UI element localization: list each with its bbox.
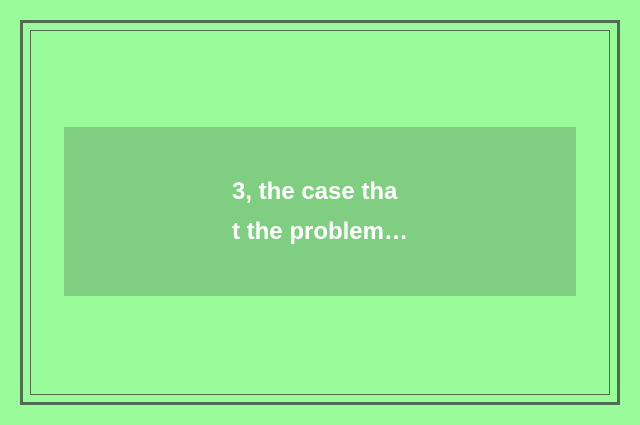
content-panel: 3, the case tha t the problem… (64, 127, 576, 296)
page-canvas: 3, the case tha t the problem… (0, 0, 640, 425)
panel-text: 3, the case tha t the problem… (232, 172, 408, 252)
